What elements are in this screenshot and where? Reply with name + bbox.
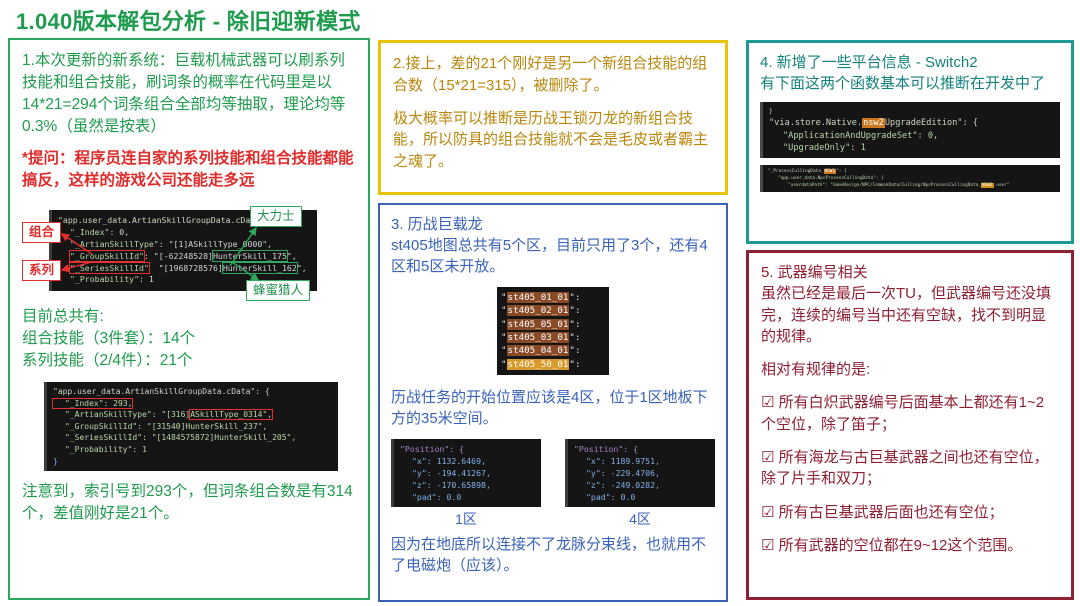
panel1-code1-wrapper: "app.user_data.ArtianSkillGroupData.cDat… [22, 204, 356, 300]
code-line: "z": -170.65898, [400, 480, 491, 490]
quote: " [501, 359, 507, 370]
panel1-footer: 注意到，索引号到293个，但词条组合数是有314个，差值刚好是21个。 [22, 481, 356, 525]
position-code-zone4: "Position": { "x": 1189.9751, "y": -229.… [565, 439, 715, 507]
panel3-para3: 因为在地底所以连接不了龙脉分束线，也就用不了电磁炮（应该）。 [391, 534, 715, 576]
panel4-code-block-1: } "via.store.Native.nsw2UpgradeEdition":… [760, 102, 1060, 158]
colon: ": [569, 305, 580, 316]
code-line: "userdataPath": "GameDesign/NPC/CommonDa… [788, 183, 981, 188]
code-line: "x": 1189.9751, [574, 456, 660, 466]
spacer [761, 490, 1059, 502]
code-line: "y": -229.4706, [574, 468, 660, 478]
panel5-heading: 5. 武器编号相关 [761, 262, 1059, 283]
colon: ": [569, 319, 580, 330]
code-line: "ApplicationAndUpgradeSet": 0, [769, 131, 938, 141]
colon: ": [569, 292, 580, 303]
spacer [761, 347, 1059, 359]
panel5-bullet-4: ☑ 所有武器的空位都在9~12这个范围。 [761, 535, 1059, 556]
panel2-para2: 极大概率可以推断是历战王锁刃龙的新组合技能，所以防具的组合技能就不会是毛皮或者霸… [393, 108, 713, 173]
panel-arena-zones: 3. 历战巨载龙 st405地图总共有5个区，目前只用了3个，还有4区和5区未开… [378, 203, 728, 602]
panel5-para2: 相对有规律的是: [761, 359, 1059, 380]
panel5-bullet-3: ☑ 所有古巨基武器后面也还有空位； [761, 502, 1059, 523]
code-hl-nsw2: nsw2 [862, 118, 885, 128]
map-id-5: st405_05_01 [507, 319, 570, 330]
page-title: 1.040版本解包分析 - 除旧迎新模式 [16, 4, 361, 36]
code-line: "Position": { [574, 444, 638, 454]
quote: " [501, 292, 507, 303]
code-line: } [769, 108, 773, 115]
colon: ": [569, 332, 580, 343]
code-line: } [53, 457, 58, 466]
map-id-2: st405_02_01 [507, 305, 570, 316]
colon: ": [569, 345, 580, 356]
panel-weapon-numbering: 5. 武器编号相关 虽然已经是最后一次TU，但武器编号还没填完，连续的编号当中还… [746, 250, 1074, 600]
spacer [761, 523, 1059, 535]
slide-root: 1.040版本解包分析 - 除旧迎新模式 1.本次更新的新系统：巨载机械武器可以… [0, 0, 1080, 606]
panel1-code-block-2: "app.user_data.ArtianSkillGroupData.cDat… [44, 382, 338, 471]
code-line: UpgradeEdition": { [885, 118, 978, 128]
panel-platform-switch2: 4. 新增了一些平台信息 - Switch2 有下面这两个函数基本可以推断在开发… [746, 40, 1074, 244]
panel1-summary-line1: 组合技能（3件套）：14个 [22, 328, 356, 350]
code-hl-nsw2-culling: NSW2 [824, 169, 837, 174]
quote: " [501, 345, 507, 356]
colon: ": [569, 359, 580, 370]
quote: " [501, 319, 507, 330]
panel3-map-list-code: "st405_01_01": "st405_02_01": "st405_05_… [497, 287, 609, 375]
panel5-bullet-2: ☑ 所有海龙与古巨基武器之间也还有空位，除了片手和双刀； [761, 447, 1059, 490]
map-id-4: st405_04_01 [507, 345, 570, 356]
map-id-3: st405_03_01 [507, 332, 570, 343]
code-line: "UpgradeOnly": 1 [769, 143, 866, 153]
panel3-position-row: "Position": { "x": 1132.6469, "y": -194.… [391, 439, 715, 530]
quote: " [501, 332, 507, 343]
position-code-zone1: "Position": { "x": 1132.6469, "y": -194.… [391, 439, 541, 507]
panel4-para1: 有下面这两个函数基本可以推断在开发中了 [760, 73, 1060, 94]
annotation-arrows [22, 204, 360, 300]
panel3-para2: 历战任务的开始位置应该是4区，位于1区地板下方的35米空间。 [391, 387, 715, 429]
code-line: "_ArtianSkillType": "[316] [65, 410, 190, 419]
panel5-bullet-1: ☑ 所有白炽武器编号后面基本上都还有1~2个空位，除了笛子； [761, 392, 1059, 435]
panel3-position-right: "Position": { "x": 1189.9751, "y": -229.… [565, 439, 715, 530]
panel-new-system: 1.本次更新的新系统：巨载机械武器可以刷系列技能和组合技能，刷词条的概率在代码里… [8, 38, 370, 600]
panel3-position-left: "Position": { "x": 1132.6469, "y": -194.… [391, 439, 541, 530]
panel2-para1: 2.接上，差的21个刚好是另一个新组合技能的组合数（15*21=315），被删除… [393, 53, 713, 97]
spacer [393, 97, 713, 108]
panel1-summary-title: 目前总共有: [22, 306, 356, 328]
code-line: "via.store.Native. [769, 118, 862, 128]
map-id-50: st405_50_01 [507, 359, 570, 370]
code-line: "app.user_data.ArtianSkillGroupData.cDat… [53, 387, 270, 396]
caption-zone-4: 4区 [565, 510, 715, 530]
code-line: .user" [994, 183, 1010, 188]
code-line: "x": 1132.6469, [400, 456, 486, 466]
caption-zone-1: 1区 [391, 510, 541, 530]
code-line: "_GroupSkillId": "[31540]HunterSkill_237… [53, 422, 267, 431]
code-line: "app.user_data.NpcProcessCullingData": { [768, 176, 884, 181]
code-line: "y": -194.41267, [400, 468, 491, 478]
panel1-body: 1.本次更新的新系统：巨载机械武器可以刷系列技能和组合技能，刷词条的概率在代码里… [22, 50, 356, 138]
map-id-1: st405_01_01 [507, 292, 570, 303]
panel1-warning: *提问：程序员连自家的系列技能和组合技能都能搞反，这样的游戏公司还能走多远 [22, 148, 356, 192]
panel4-code-block-2: "_ProcessCullingData_NSW2": { "app.user_… [760, 165, 1060, 192]
quote: " [501, 305, 507, 316]
panel5-para1: 虽然已经是最后一次TU，但武器编号还没填完，连续的编号当中还有空缺，找不到明显的… [761, 283, 1059, 347]
code-line: "pad": 0.0 [574, 492, 635, 502]
code-askilltype-0314: ASkillType_0314", [190, 410, 272, 419]
code-line: "pad": 0.0 [400, 492, 461, 502]
code-line: "z": -249.0282, [574, 480, 660, 490]
code-line: "_Probability": 1 [53, 445, 147, 454]
code-line: ": { [836, 169, 847, 174]
panel3-heading: 3. 历战巨载龙 [391, 214, 715, 235]
code-hl-nsw2-path: NSW2 [981, 183, 994, 188]
code-line: "_SeriesSkillId": "[1484575872]HunterSki… [53, 433, 296, 442]
panel1-summary-line2: 系列技能（2/4件）：21个 [22, 350, 356, 372]
panel-deleted-combo: 2.接上，差的21个刚好是另一个新组合技能的组合数（15*21=315），被删除… [378, 40, 728, 195]
code-line: "Position": { [400, 444, 464, 454]
code-index-293: "_Index": 293, [53, 399, 132, 408]
panel3-para1: st405地图总共有5个区，目前只用了3个，还有4区和5区未开放。 [391, 235, 715, 277]
code-line: "_ProcessCullingData_ [768, 169, 824, 174]
panel4-heading: 4. 新增了一些平台信息 - Switch2 [760, 52, 1060, 73]
spacer [761, 435, 1059, 447]
spacer [761, 380, 1059, 392]
